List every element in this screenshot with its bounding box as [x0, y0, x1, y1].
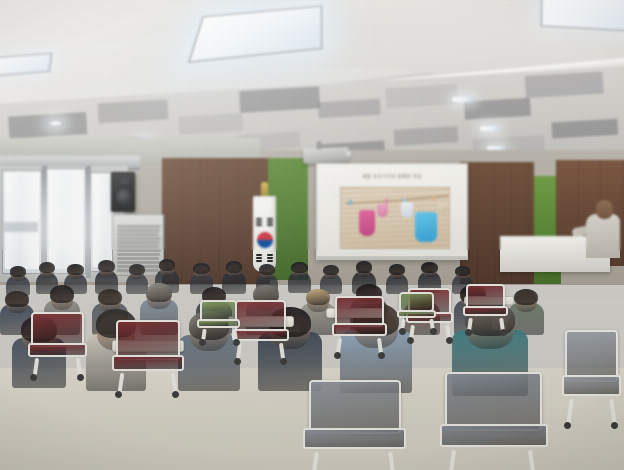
attendee-hair [389, 264, 405, 275]
attendee-hair [193, 263, 209, 274]
clothesline-left [345, 200, 399, 204]
garment-pink-small [377, 204, 388, 217]
ceiling-tile-7 [464, 98, 531, 120]
ceiling-tile-2 [97, 99, 168, 123]
chair-green-2-seat[interactable] [397, 310, 436, 318]
chair-maroon-4-leg-right [377, 337, 383, 353]
ceiling-tile-14 [394, 126, 459, 146]
ac-louver-1 [117, 225, 161, 228]
wall-speaker [111, 172, 135, 212]
garment-blue [415, 212, 437, 242]
window-distant-view [4, 222, 38, 232]
ceiling-tile-3 [178, 113, 243, 135]
attendee-hair [455, 266, 470, 276]
trigram-geon-c [256, 224, 262, 226]
chair-maroon-4-caster-right [378, 352, 385, 359]
photo-canvas: 재활 보조기기의 함께한 마음 [0, 0, 624, 470]
chair-green-1[interactable] [196, 300, 242, 336]
chair-maroon-6-caster-left [465, 329, 472, 336]
trigram-geon-a [256, 218, 262, 220]
clothespin-1 [349, 200, 352, 205]
presenter-head [596, 200, 613, 219]
chair-gray-1-seat[interactable] [303, 428, 406, 450]
chair-gray-3-seat[interactable] [562, 375, 621, 396]
attendee-hair [291, 262, 307, 273]
attendee-hair [39, 262, 55, 274]
chair-gray-2-backrest[interactable] [445, 372, 542, 431]
ceiling-tile-5 [318, 99, 381, 119]
chair-green-2-caster-right [430, 328, 437, 335]
chair-maroon-2-seat[interactable] [112, 355, 184, 371]
garment-pink [359, 210, 375, 236]
clothespin-4 [433, 196, 436, 201]
attendee-hair [129, 264, 145, 275]
garment-beige [437, 204, 449, 213]
chair-maroon-3-caster-right [280, 358, 287, 365]
speaker-woofer [116, 189, 132, 205]
chair-maroon-1[interactable] [26, 312, 90, 370]
slide-photo [340, 187, 450, 249]
ac-louver-5 [117, 241, 160, 244]
trigram-gam-c [267, 224, 273, 226]
audience-area [0, 248, 624, 470]
chair-gray-3-backrest[interactable] [565, 330, 617, 382]
ceiling-tile-4 [239, 86, 320, 113]
chair-maroon-1-seat[interactable] [28, 343, 87, 357]
chair-gray-1[interactable] [300, 380, 412, 470]
projector-mount-arm [316, 141, 321, 149]
chair-maroon-5-caster-left [407, 337, 414, 344]
chair-maroon-2-caster-left [115, 391, 122, 398]
chair-green-2[interactable] [396, 292, 438, 326]
chair-maroon-6-seat[interactable] [463, 306, 507, 316]
attendee-hair [50, 285, 74, 303]
chair-maroon-4-seat[interactable] [332, 323, 387, 335]
attendee-hair [421, 262, 437, 273]
attendee-hair [67, 264, 83, 275]
chair-gray-2-leg-left [448, 450, 456, 470]
chair-green-1-caster-left [199, 339, 206, 346]
attendee-hair [323, 265, 339, 275]
attendee-hair [5, 291, 28, 307]
ac-louver-3 [117, 233, 159, 236]
chair-maroon-2-leg-right [171, 373, 178, 393]
chair-gray-1-leg-right [388, 452, 396, 470]
attendee-hair [159, 259, 176, 271]
attendee-hair [356, 261, 373, 273]
chair-maroon-4[interactable] [330, 296, 390, 348]
chair-gray-3-caster-left [564, 422, 571, 429]
attendee-hair [10, 266, 27, 277]
chair-maroon-3-backrest[interactable] [235, 300, 286, 332]
attendee-hair [259, 264, 275, 275]
garment-white [401, 202, 413, 218]
ceiling-tile-16 [551, 119, 618, 139]
attendee-hair [226, 261, 243, 273]
chair-maroon-6[interactable] [462, 284, 510, 326]
clothesline-right [399, 195, 449, 201]
attendee-hair [146, 283, 172, 302]
chair-green-1-caster-right [233, 339, 240, 346]
chair-maroon-5-caster-right [446, 337, 453, 344]
ac-louver-4 [117, 237, 161, 240]
downlight-1 [48, 120, 63, 127]
taeguk-symbol [257, 232, 273, 248]
trigram-gam-a [267, 218, 273, 220]
chair-gray-1-leg-left [312, 452, 320, 470]
chair-maroon-2-backrest[interactable] [116, 320, 180, 360]
ceiling-tile-8 [525, 71, 604, 98]
chair-maroon-1-caster-left [30, 374, 37, 381]
trigram-geon-b [256, 221, 262, 223]
chair-gray-1-backrest[interactable] [309, 380, 401, 434]
chair-gray-2-leg-right [528, 450, 536, 470]
ceiling-projector [303, 147, 349, 164]
chair-gray-3[interactable] [560, 330, 624, 416]
speaker-tweeter [120, 178, 128, 184]
attendee-hair [98, 289, 122, 306]
ac-louver-2 [117, 229, 160, 232]
slimlight-1 [452, 97, 474, 102]
slimlight-2 [480, 126, 500, 131]
chair-gray-2-seat[interactable] [440, 424, 549, 448]
chair-maroon-2[interactable] [110, 320, 188, 386]
chair-maroon-3-caster-left [234, 358, 241, 365]
ceiling-tile-1 [8, 112, 87, 139]
attendee-hair [98, 260, 114, 272]
chair-green-1-seat[interactable] [197, 319, 239, 328]
slide-title: 재활 보조기기의 함께한 마음 [317, 174, 467, 180]
projection-screen: 재활 보조기기의 함께한 마음 [316, 163, 468, 260]
chair-gray-2[interactable] [436, 372, 554, 470]
ceiling-tile-6 [385, 84, 458, 108]
chair-green-2-caster-left [399, 328, 406, 335]
chair-maroon-1-backrest[interactable] [31, 312, 83, 347]
chair-maroon-4-caster-left [334, 352, 341, 359]
chair-maroon-2-caster-right [172, 391, 179, 398]
trigram-gam-b [267, 221, 273, 223]
